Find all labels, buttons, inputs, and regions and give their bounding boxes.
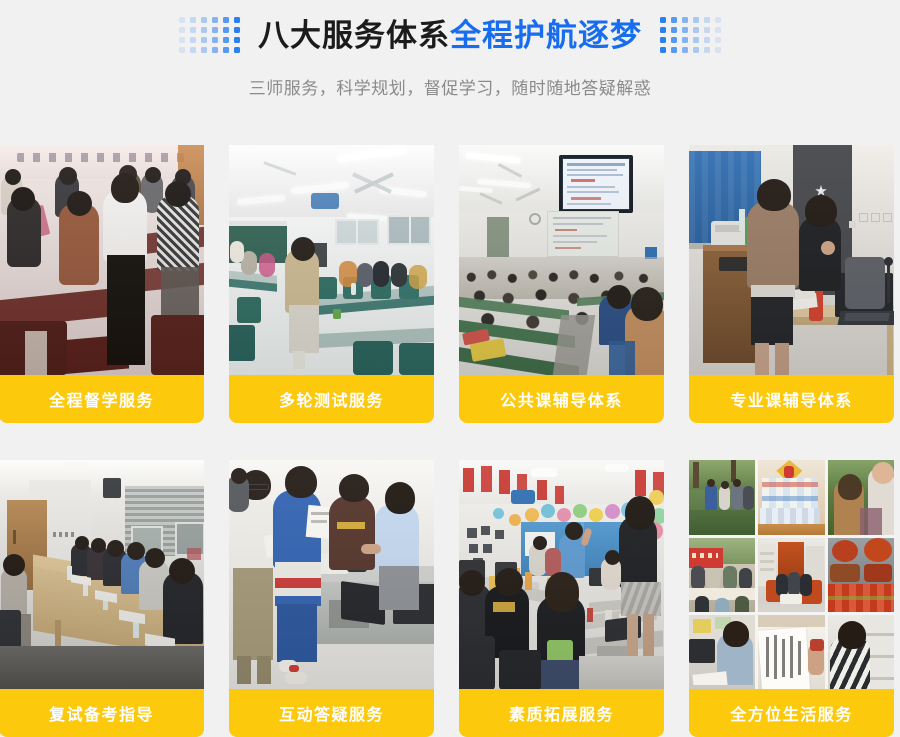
service-system-section: 八大服务体系全程护航逐梦 三师服务，科学规划，督促学习，随时随地答疑解惑: [0, 0, 900, 737]
collage-cell: [828, 460, 894, 535]
service-card[interactable]: 复试备考指导: [0, 460, 204, 737]
collage-cell: [689, 615, 755, 690]
card-label[interactable]: 全程督学服务: [0, 375, 204, 423]
service-card[interactable]: 全方位生活服务: [689, 460, 894, 737]
card-label[interactable]: 复试备考指导: [0, 689, 204, 737]
card-label[interactable]: 互动答疑服务: [229, 689, 434, 737]
card-label[interactable]: 公共课辅导体系: [459, 375, 664, 423]
collage-cell: [689, 460, 755, 535]
collage-cell: [828, 615, 894, 690]
card-label-text: 复试备考指导: [49, 701, 154, 725]
dot-grid-gradient-left-icon: [179, 17, 240, 53]
collage-cell: [689, 538, 755, 613]
card-photo: [229, 460, 434, 690]
collage-cell: [828, 538, 894, 613]
collage-cell: [758, 538, 824, 613]
card-photo: [459, 145, 664, 375]
card-photo: [229, 145, 434, 375]
card-label[interactable]: 全方位生活服务: [689, 689, 894, 737]
card-photo: [689, 460, 894, 690]
card-photo: [689, 145, 894, 375]
collage-cell: [758, 615, 824, 690]
page-title: 八大服务体系全程护航逐梦: [258, 20, 642, 51]
service-card[interactable]: 互动答疑服务: [229, 460, 434, 737]
card-label-text: 素质拓展服务: [509, 701, 614, 725]
service-card[interactable]: 多轮测试服务: [229, 145, 434, 423]
card-photo: [0, 145, 204, 375]
card-label-text: 互动答疑服务: [279, 701, 384, 725]
service-card[interactable]: 专业课辅导体系: [689, 145, 894, 423]
card-photo: [459, 460, 664, 690]
service-card[interactable]: 素质拓展服务: [459, 460, 664, 737]
headline-row: 八大服务体系全程护航逐梦: [0, 11, 900, 59]
card-label-text: 公共课辅导体系: [500, 387, 623, 411]
section-subtitle: 三师服务，科学规划，督促学习，随时随地答疑解惑: [0, 74, 900, 99]
card-label[interactable]: 多轮测试服务: [229, 375, 434, 423]
headline-primary: 八大服务体系: [258, 18, 450, 53]
card-label[interactable]: 专业课辅导体系: [689, 375, 894, 423]
card-label[interactable]: 素质拓展服务: [459, 689, 664, 737]
card-label-text: 多轮测试服务: [279, 387, 384, 411]
card-label-text: 全方位生活服务: [730, 701, 853, 725]
headline-accent: 全程护航逐梦: [450, 18, 642, 53]
section-header: 八大服务体系全程护航逐梦 三师服务，科学规划，督促学习，随时随地答疑解惑: [0, 0, 900, 130]
service-card-grid: 全程督学服务: [0, 145, 900, 737]
service-card[interactable]: 公共课辅导体系: [459, 145, 664, 423]
photo-collage: [689, 460, 894, 690]
card-photo: [0, 460, 204, 690]
collage-cell: [758, 460, 824, 535]
card-label-text: 全程督学服务: [49, 387, 154, 411]
dot-grid-gradient-right-icon: [660, 17, 721, 53]
card-label-text: 专业课辅导体系: [730, 387, 853, 411]
service-card[interactable]: 全程督学服务: [0, 145, 204, 423]
